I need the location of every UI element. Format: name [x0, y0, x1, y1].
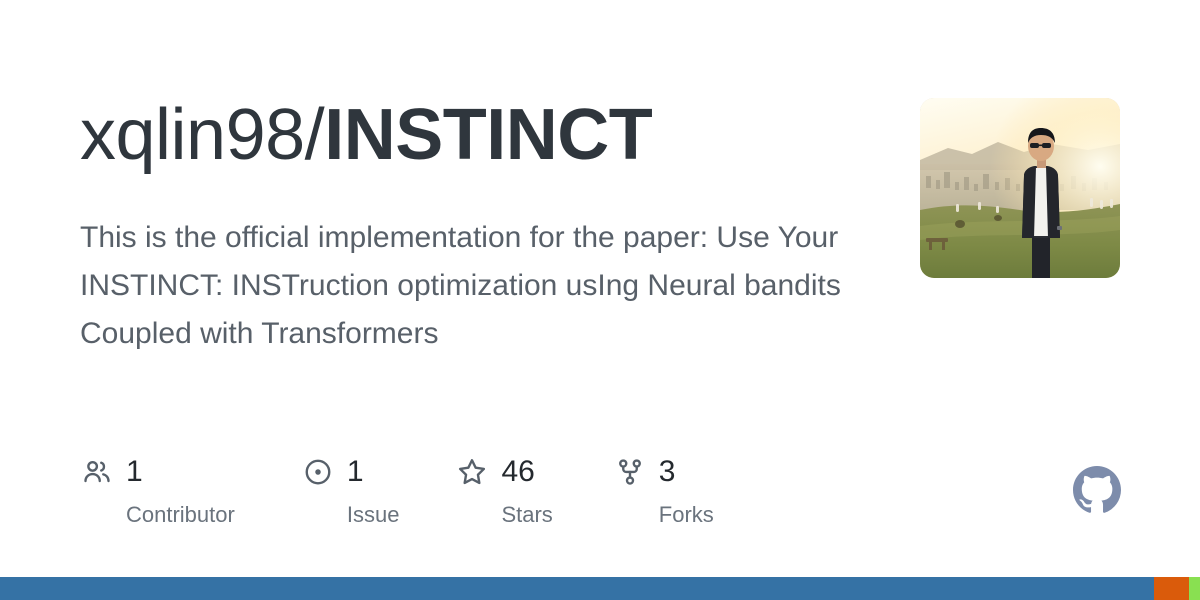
stat-stars-value: 46	[501, 455, 534, 489]
stat-issues-top: 1	[301, 452, 364, 492]
language-segment-secondary	[1154, 577, 1189, 600]
github-mark-icon	[1073, 466, 1121, 514]
stat-contributors-top: 1	[80, 452, 143, 492]
stat-forks-top: 3	[613, 452, 676, 492]
stat-issues-value: 1	[347, 455, 364, 489]
repo-forked-icon	[613, 455, 647, 489]
avatar-photo-icon	[920, 98, 1120, 278]
repo-description: This is the official implementation for …	[80, 214, 870, 358]
stat-issues: 1 Issue	[301, 452, 400, 528]
language-segment-primary	[0, 577, 1154, 600]
issue-opened-icon	[301, 455, 335, 489]
repo-name-separator: /	[305, 95, 325, 175]
avatar	[920, 98, 1120, 278]
repo-owner: xqlin98	[80, 95, 305, 175]
stat-forks-label: Forks	[659, 502, 714, 528]
language-bar	[0, 577, 1200, 600]
page-title: xqlin98/INSTINCT	[80, 92, 652, 178]
language-segment-tertiary	[1189, 577, 1200, 600]
repo-name: INSTINCT	[324, 95, 652, 175]
stat-contributors-label: Contributor	[126, 502, 235, 528]
stat-contributors-value: 1	[126, 455, 143, 489]
stat-stars-label: Stars	[501, 502, 552, 528]
repo-stats: 1 Contributor 1 Issue	[80, 452, 714, 528]
stat-forks: 3 Forks	[613, 452, 714, 528]
star-icon	[455, 455, 489, 489]
stat-stars-top: 46	[455, 452, 534, 492]
repo-social-preview-card: xqlin98/INSTINCT This is the official im…	[0, 0, 1200, 600]
stat-forks-value: 3	[659, 455, 676, 489]
stat-stars: 46 Stars	[455, 452, 552, 528]
people-icon	[80, 455, 114, 489]
stat-contributors: 1 Contributor	[80, 452, 235, 528]
stat-issues-label: Issue	[347, 502, 400, 528]
